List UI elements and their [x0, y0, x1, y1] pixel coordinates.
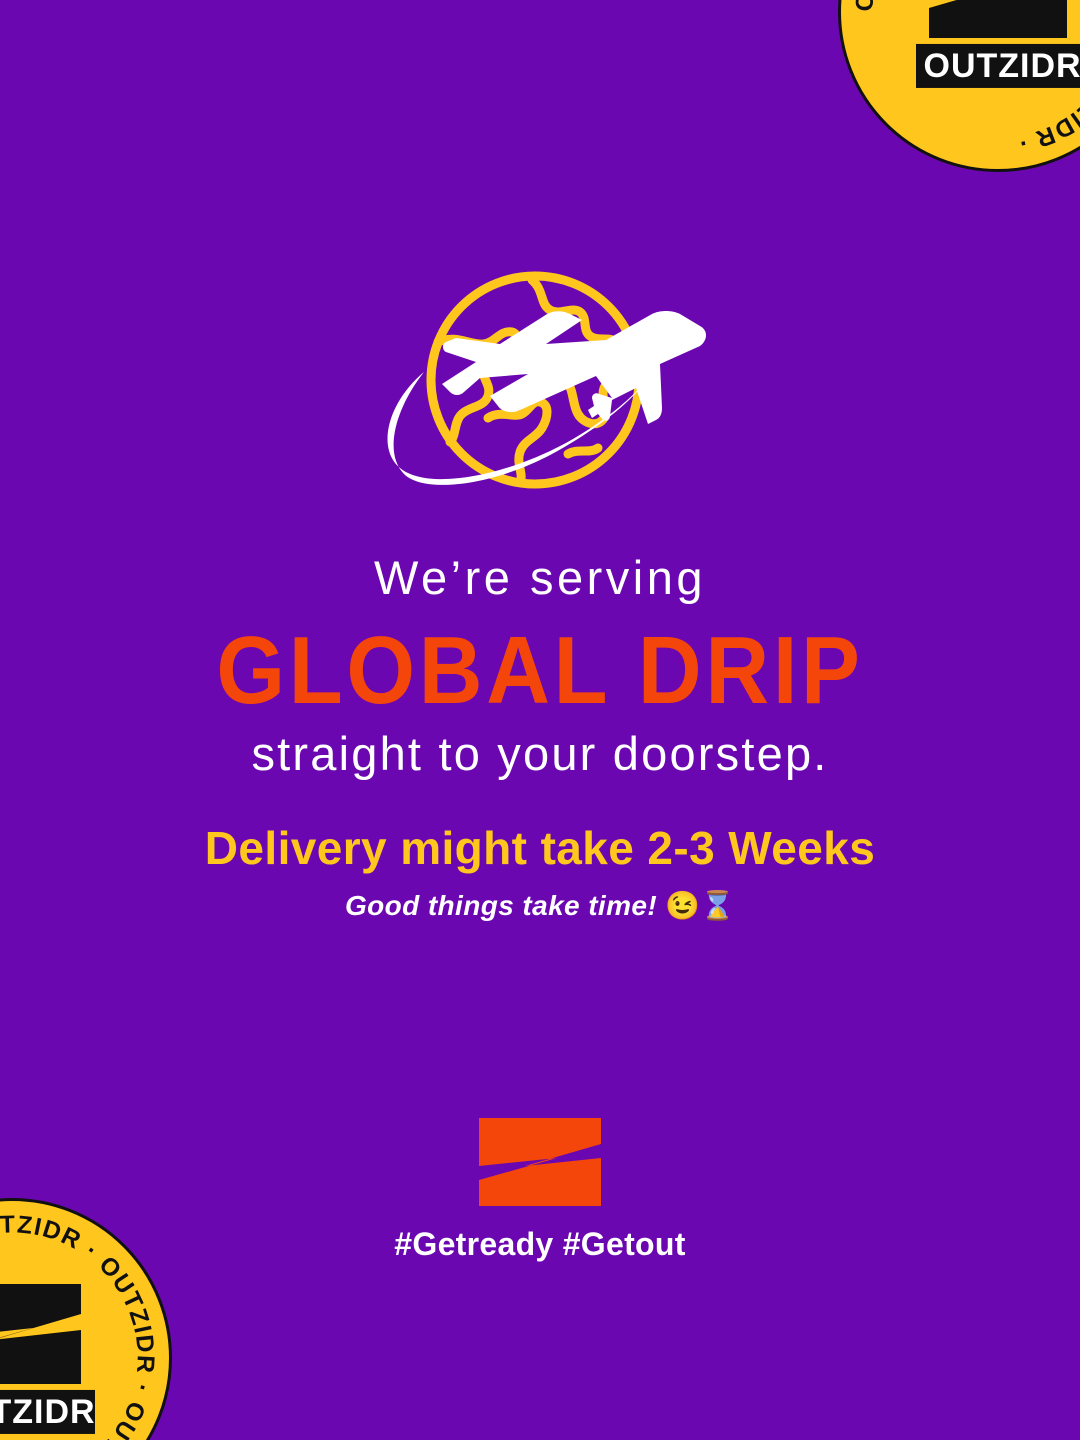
delivery-headline: Delivery might take 2-3 Weeks: [0, 822, 1080, 875]
headline-block: We’re serving GLOBAL DRIP straight to yo…: [0, 552, 1080, 781]
globe-airplane-icon: [360, 268, 720, 520]
wink-hourglass-emoji: 😉⌛: [665, 890, 735, 921]
z-monogram-icon: [0, 1282, 87, 1386]
poster-canvas: OUTZIDR · OUTZIDR · OUTZIDR · OUTZIDR · …: [0, 0, 1080, 1440]
headline-sub: straight to your doorstep.: [0, 727, 1080, 781]
badge-wordmark: OUTZIDR: [916, 44, 1080, 88]
headline-main: GLOBAL DRIP: [43, 620, 1037, 722]
badge-wordmark: OUTZIDR: [0, 1390, 95, 1434]
outzidr-z-logo-icon: [479, 1118, 601, 1206]
z-monogram-icon: [923, 0, 1073, 40]
delivery-notice: Delivery might take 2-3 Weeks Good thing…: [0, 822, 1080, 922]
delivery-tagline: Good things take time! 😉⌛: [0, 889, 1080, 923]
badge-core-top-right: OUTZIDR: [898, 0, 1080, 88]
brand-badge-bottom-left: OUTZIDR · OUTZIDR · OUTZIDR · OUTZIDR · …: [0, 1198, 172, 1440]
delivery-tagline-text: Good things take time!: [345, 890, 657, 921]
brand-badge-top-right: OUTZIDR · OUTZIDR · OUTZIDR · OUTZIDR · …: [838, 0, 1080, 172]
badge-core-bottom-left: OUTZIDR: [0, 1282, 112, 1434]
headline-kicker: We’re serving: [0, 552, 1080, 604]
hero-illustration: [0, 268, 1080, 520]
